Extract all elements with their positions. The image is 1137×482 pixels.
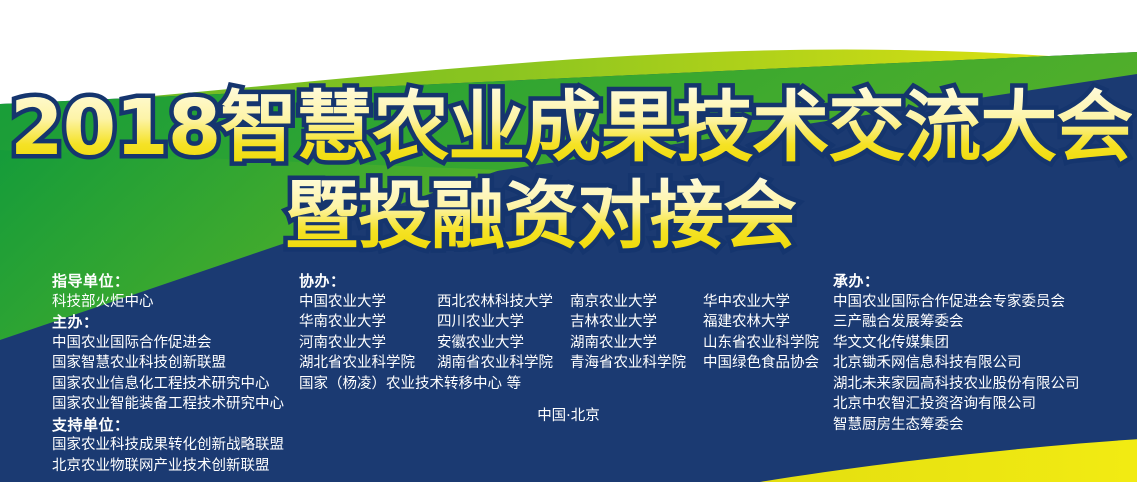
coorganizers-column: 协办： 中国农业大学 西北农林科技大学 南京农业大学 华中农业大学 华南农业大学… (299, 271, 819, 394)
organizer-item: 中国农业国际合作促进会 (52, 333, 284, 354)
coorganizers-footer-row: 国家（杨凌）农业技术转移中心 等 (299, 374, 703, 395)
coorganizers-heading: 协办： (299, 271, 819, 292)
host-item: 中国农业国际合作促进会专家委员会 (833, 292, 1080, 313)
organizer-item: 国家农业信息化工程技术研究中心 (52, 374, 284, 395)
coorganizer-item: 湖南农业大学 (570, 333, 703, 354)
host-item: 华文文化传媒集团 (833, 333, 1080, 354)
coorganizers-grid: 中国农业大学 西北农林科技大学 南京农业大学 华中农业大学 华南农业大学 四川农… (299, 292, 819, 395)
conference-banner: 2018智慧农业成果技术交流大会 2018智慧农业成果技术交流大会 暨投融资对接… (0, 0, 1137, 482)
organizers-heading: 主办： (52, 312, 284, 333)
host-item: 北京锄禾网信息科技有限公司 (833, 353, 1080, 374)
host-item: 湖北未来家园高科技农业股份有限公司 (833, 374, 1080, 395)
coorganizer-item: 南京农业大学 (570, 292, 703, 313)
coorganizer-item: 山东省农业科学院 (703, 333, 819, 354)
coorganizer-item: 中国农业大学 (299, 292, 437, 313)
coorganizer-item: 西北农林科技大学 (437, 292, 570, 313)
coorganizer-item: 河南农业大学 (299, 333, 437, 354)
guidance-heading: 指导单位： (52, 271, 284, 292)
supporter-item: 北京农业物联网产业技术创新联盟 (52, 456, 284, 477)
coorganizer-item: 华南农业大学 (299, 312, 437, 333)
left-info-column: 指导单位： 科技部火炬中心 主办： 中国农业国际合作促进会 国家智慧农业科技创新… (52, 271, 284, 476)
coorganizer-item: 华中农业大学 (703, 292, 819, 313)
coorganizer-item: 福建农林大学 (703, 312, 819, 333)
venue-label: 中国·北京 (0, 404, 1137, 425)
coorganizer-item: 中国绿色食品协会 (703, 353, 819, 374)
hosts-heading: 承办： (833, 271, 1080, 292)
guidance-item: 科技部火炬中心 (52, 292, 284, 313)
host-item: 三产融合发展筹委会 (833, 312, 1080, 333)
organizer-item: 国家智慧农业科技创新联盟 (52, 353, 284, 374)
coorganizer-item: 安徽农业大学 (437, 333, 570, 354)
supporter-item: 国家农业科技成果转化创新战略联盟 (52, 435, 284, 456)
coorganizer-item: 四川农业大学 (437, 312, 570, 333)
coorganizer-item: 青海省农业科学院 (570, 353, 703, 374)
coorganizer-item: 湖南省农业科学院 (437, 353, 570, 374)
coorganizer-item: 吉林农业大学 (570, 312, 703, 333)
coorganizer-item: 湖北省农业科学院 (299, 353, 437, 374)
